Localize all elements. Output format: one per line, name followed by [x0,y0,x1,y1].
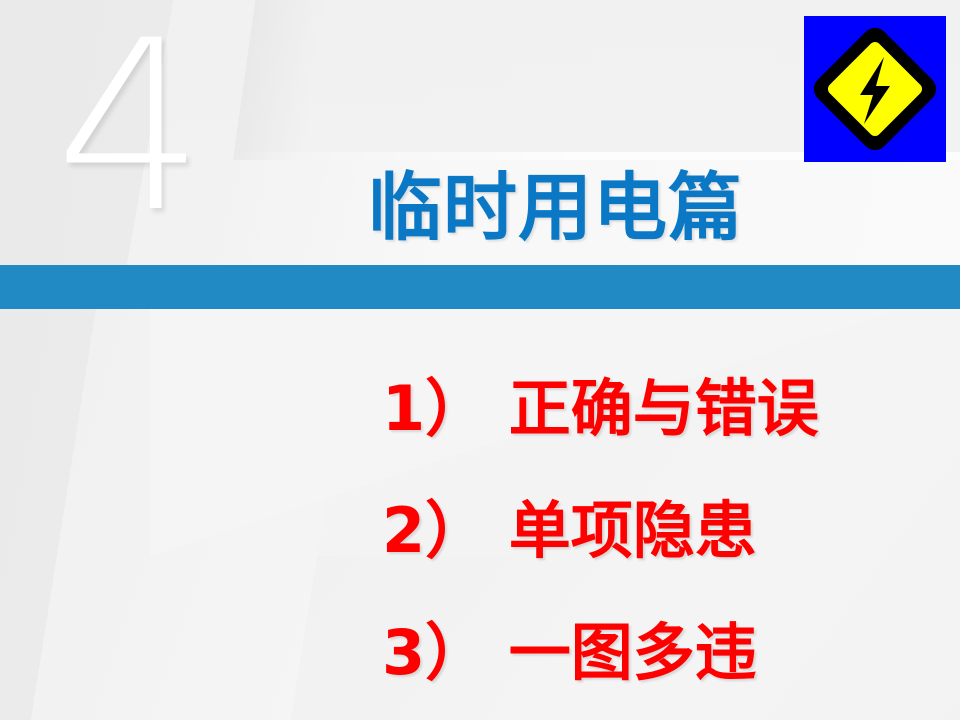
slide-title: 临时用电篇 [368,162,743,254]
list-item: 2） 单项隐患 [382,470,942,592]
electrical-hazard-icon [804,16,946,162]
accent-bar [0,265,960,309]
background-band-seam [212,0,328,310]
background-band-lower-left [24,306,357,720]
slide-number: 4 [34,8,224,248]
topic-list: 1） 正确与错误 2） 单项隐患 3） 一图多违 [382,348,942,714]
list-item: 1） 正确与错误 [382,348,942,470]
presentation-slide: 4 临时用电篇 1） 正确与错误 2） 单项隐患 3） 一图多违 [0,0,960,720]
list-item: 3） 一图多违 [382,592,942,714]
